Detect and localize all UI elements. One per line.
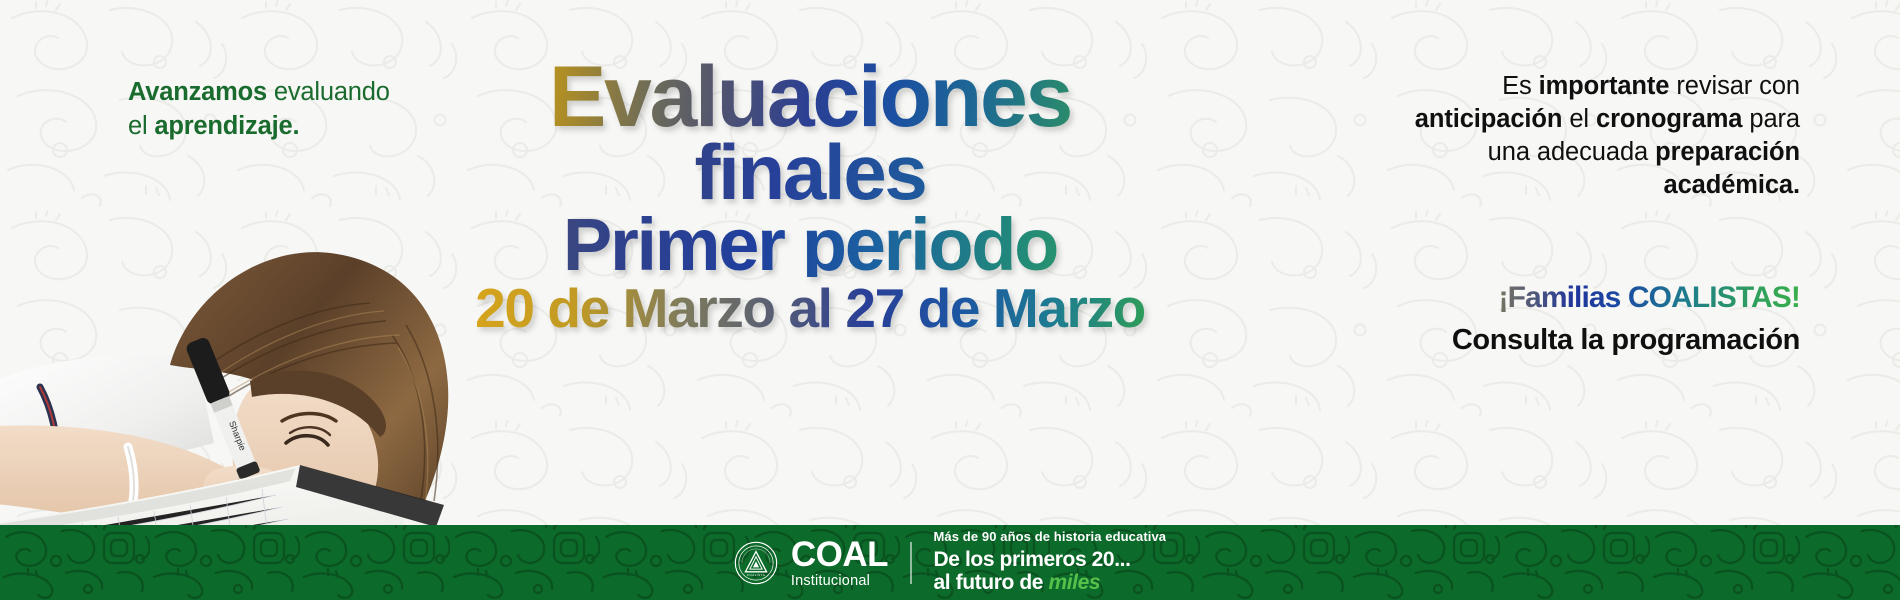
left-headline-rest-1: evaluando — [267, 78, 390, 106]
right-para-l2c: cronograma — [1596, 105, 1742, 133]
banner-root: Sharpie — [0, 0, 1900, 600]
coal-seal-icon: COALISTA — [734, 541, 778, 585]
footer-tagline-line2-a: al futuro de — [934, 571, 1049, 594]
consulta-programacion-cta[interactable]: Consulta la programación — [1380, 324, 1800, 357]
footer-bar: COALISTA COAL Institucional Más de 90 añ… — [0, 525, 1900, 600]
title-line-evaluaciones: Evaluaciones — [470, 60, 1150, 136]
footer-tagline: Más de 90 años de historia educativa De … — [934, 530, 1167, 595]
footer-tagline-top: Más de 90 años de historia educativa — [934, 530, 1167, 545]
left-headline-line-2: el aprendizaje. — [128, 110, 528, 144]
familias-coalistas-heading: ¡Familias COALISTAS! — [1380, 281, 1800, 315]
right-para-l1b: importante — [1539, 72, 1670, 100]
footer-tagline-line1: De los primeros 20... — [934, 548, 1167, 572]
footer-tagline-highlight: miles — [1048, 571, 1100, 594]
title-line-primer-periodo: Primer periodo — [470, 212, 1150, 277]
left-headline-bold-1: Avanzamos — [128, 78, 267, 106]
svg-text:COALISTA: COALISTA — [747, 573, 766, 577]
right-text-block: Es importante revisar con anticipación e… — [1380, 70, 1800, 357]
coal-brand-name: COAL — [791, 537, 888, 572]
left-headline-line-1: Avanzamos evaluando — [128, 76, 528, 110]
right-paragraph: Es importante revisar con anticipación e… — [1380, 70, 1800, 203]
right-para-l2a: anticipación — [1415, 105, 1563, 133]
right-para-l1c: revisar con — [1669, 72, 1800, 100]
coal-brand-lockup: COAL Institucional — [791, 537, 888, 589]
footer-content: COALISTA COAL Institucional Más de 90 añ… — [0, 525, 1900, 600]
left-headline: Avanzamos evaluando el aprendizaje. — [128, 76, 528, 143]
right-para-l1a: Es — [1502, 72, 1539, 100]
left-headline-rest-2: el — [128, 112, 154, 140]
center-title-block: Evaluaciones finales Primer periodo 20 d… — [470, 60, 1150, 333]
left-headline-bold-2: aprendizaje. — [154, 112, 299, 140]
coal-brand-subtitle: Institucional — [791, 574, 870, 589]
right-para-l4: preparación académica. — [1655, 138, 1800, 199]
title-date-range: 20 de Marzo al 27 de Marzo — [470, 284, 1150, 332]
footer-tagline-line2: al futuro de miles — [934, 571, 1167, 595]
right-para-l2b: el — [1562, 105, 1596, 133]
title-line-finales: finales — [470, 138, 1150, 207]
footer-divider — [910, 542, 912, 584]
